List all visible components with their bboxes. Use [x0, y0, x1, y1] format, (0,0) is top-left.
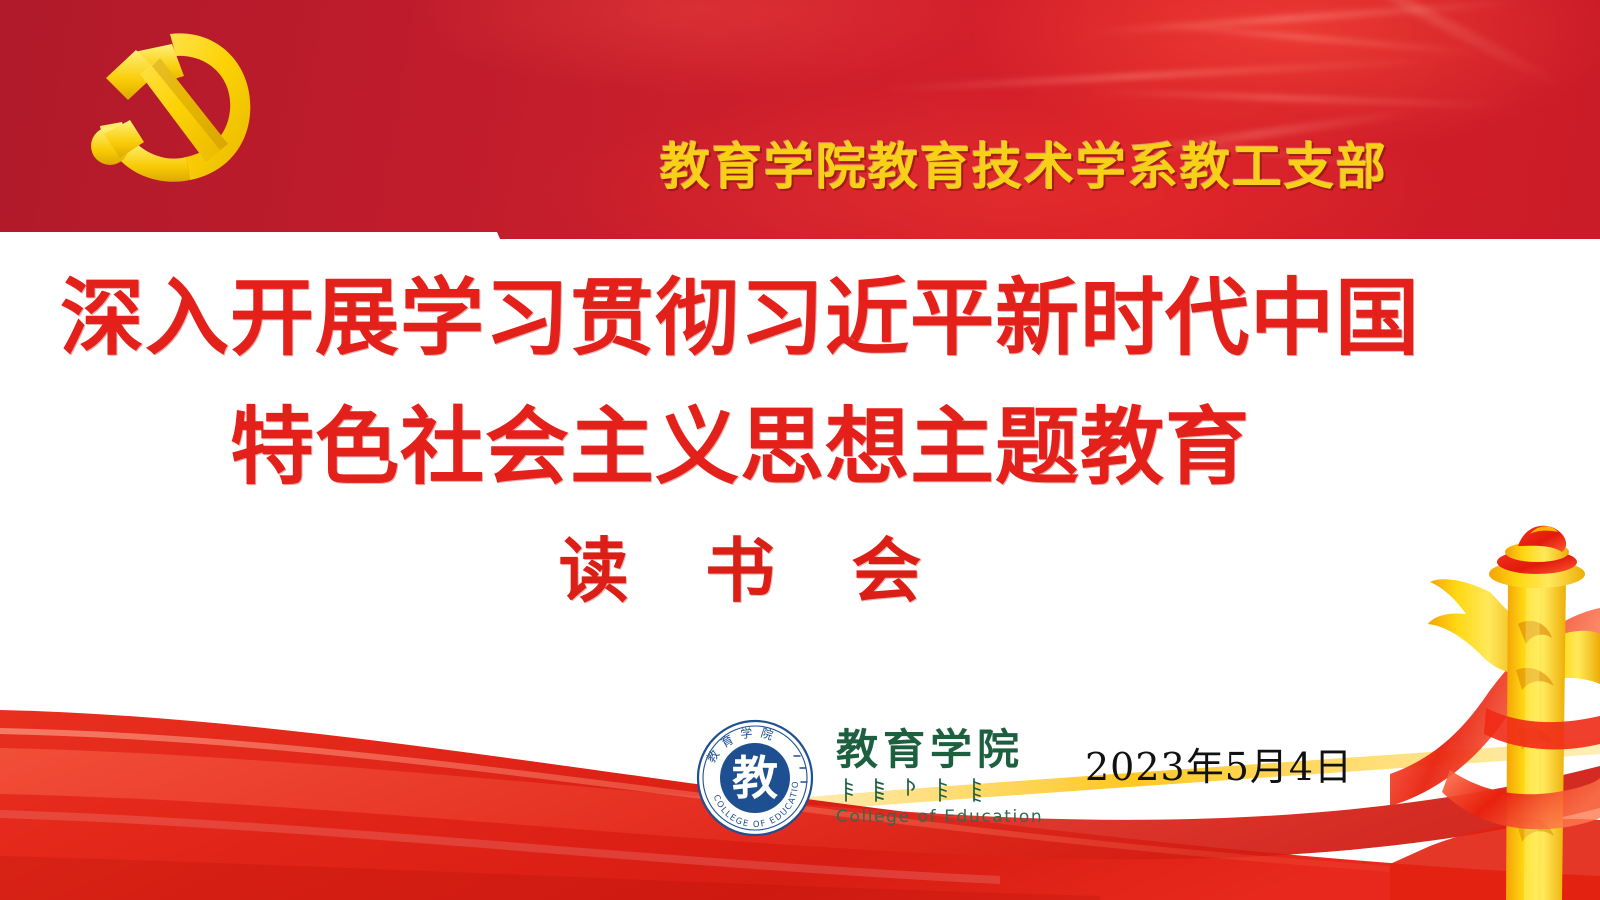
- title-block: 深入开展学习贯彻习近平新时代中国 特色社会主义思想主题教育 读 书 会: [0, 275, 1480, 606]
- main-title-line-1: 深入开展学习贯彻习近平新时代中国: [0, 275, 1480, 362]
- banner-stage: 教育学院教育技术学系教工支部 深入开展学习贯彻习近平新时代中国 特色社会主义思想…: [0, 0, 1600, 900]
- college-wordmark: 教育学院 Colle: [836, 729, 1043, 826]
- banner-header: 教育学院教育技术学系教工支部: [0, 0, 1600, 240]
- wordmark-english: College of Education: [836, 809, 1043, 826]
- wordmark-chinese: 教育学院: [836, 729, 1024, 771]
- huabiao-column-icon: [1390, 520, 1600, 900]
- event-subtitle: 读 书 会: [0, 536, 1480, 606]
- event-date: 2023年5月4日: [1085, 748, 1353, 786]
- college-seal-icon: 教 教育学院 COLLEGE OF EDUCATION: [690, 712, 820, 842]
- hammer-and-sickle-icon: [78, 22, 268, 197]
- main-title-line-2: 特色社会主义思想主题教育: [0, 404, 1480, 491]
- footer-logo-group: 教 教育学院 COLLEGE OF EDUCATION 教育学院: [690, 712, 1043, 842]
- mongolian-script-icon: [836, 777, 1016, 803]
- organization-title: 教育学院教育技术学系教工支部: [660, 142, 1388, 192]
- svg-text:教: 教: [732, 751, 778, 805]
